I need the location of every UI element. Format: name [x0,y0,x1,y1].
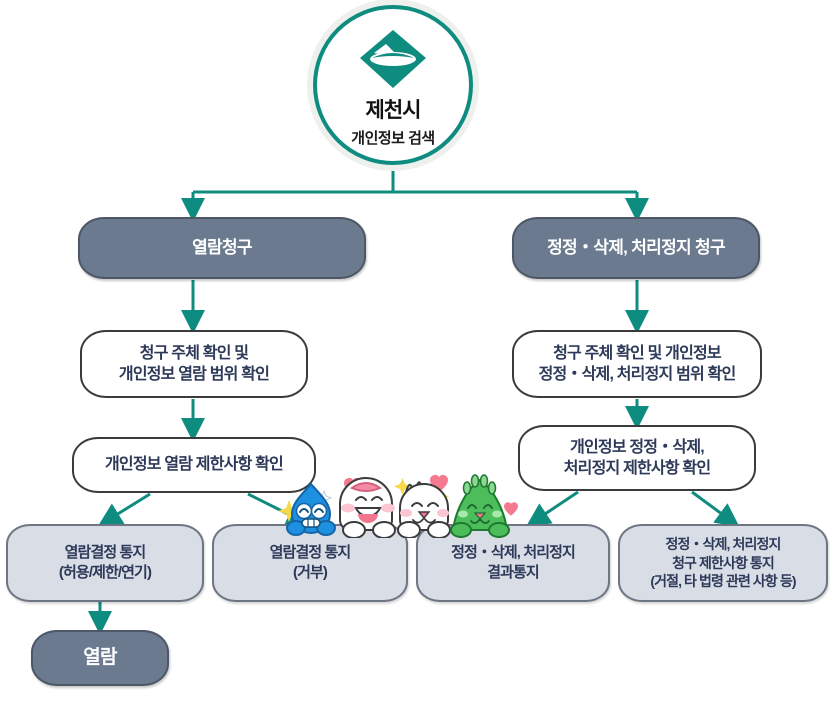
box-view-verify[interactable]: 청구 주체 확인 및 개인정보 열람 범위 확인 [80,330,308,398]
mascot-group [278,466,558,538]
box-notice-allow-label: 열람결정 통지 (허용/제한/연기) [8,543,202,583]
box-limit-notice-label: 정정・삭제, 처리정지 청구 제한사항 통지 (거절, 타 법령 관련 사항 등… [620,535,826,590]
box-view-verify-label: 청구 주체 확인 및 개인정보 열람 범위 확인 [82,343,306,385]
box-correct-verify[interactable]: 청구 주체 확인 및 개인정보 정정・삭제, 처리정지 범위 확인 [512,330,762,398]
box-notice-allow[interactable]: 열람결정 통지 (허용/제한/연기) [6,524,204,602]
box-correct-request-label: 정정・삭제, 처리정지 청구 [514,237,758,259]
flowchart-diagram: 제천시 개인정보 검색 열람청구 청구 주체 확인 및 개인정보 열람 범위 확… [0,0,833,704]
white-bunny-mascot [398,482,450,538]
box-view-request-label: 열람청구 [80,237,364,259]
root-logo-node: 제천시 개인정보 검색 [313,5,473,165]
box-final-view[interactable]: 열람 [31,630,169,686]
green-mountain-mascot [451,475,509,537]
root-city-label: 제천시 [366,94,421,124]
box-final-view-label: 열람 [33,645,167,670]
white-smile-mascot [340,478,395,538]
box-result-notice-label: 정정・삭제, 처리정지 결과통지 [418,543,608,583]
root-subtitle-label: 개인정보 검색 [351,127,434,148]
box-notice-deny-label: 열람결정 통지 (거부) [214,543,406,583]
box-view-request[interactable]: 열람청구 [78,217,366,279]
box-limit-notice[interactable]: 정정・삭제, 처리정지 청구 제한사항 통지 (거절, 타 법령 관련 사항 등… [618,524,828,602]
box-correct-verify-label: 청구 주체 확인 및 개인정보 정정・삭제, 처리정지 범위 확인 [514,343,760,385]
blue-drop-mascot [287,484,335,535]
jecheon-city-emblem-icon [356,28,430,92]
box-correct-request[interactable]: 정정・삭제, 처리정지 청구 [512,217,760,279]
